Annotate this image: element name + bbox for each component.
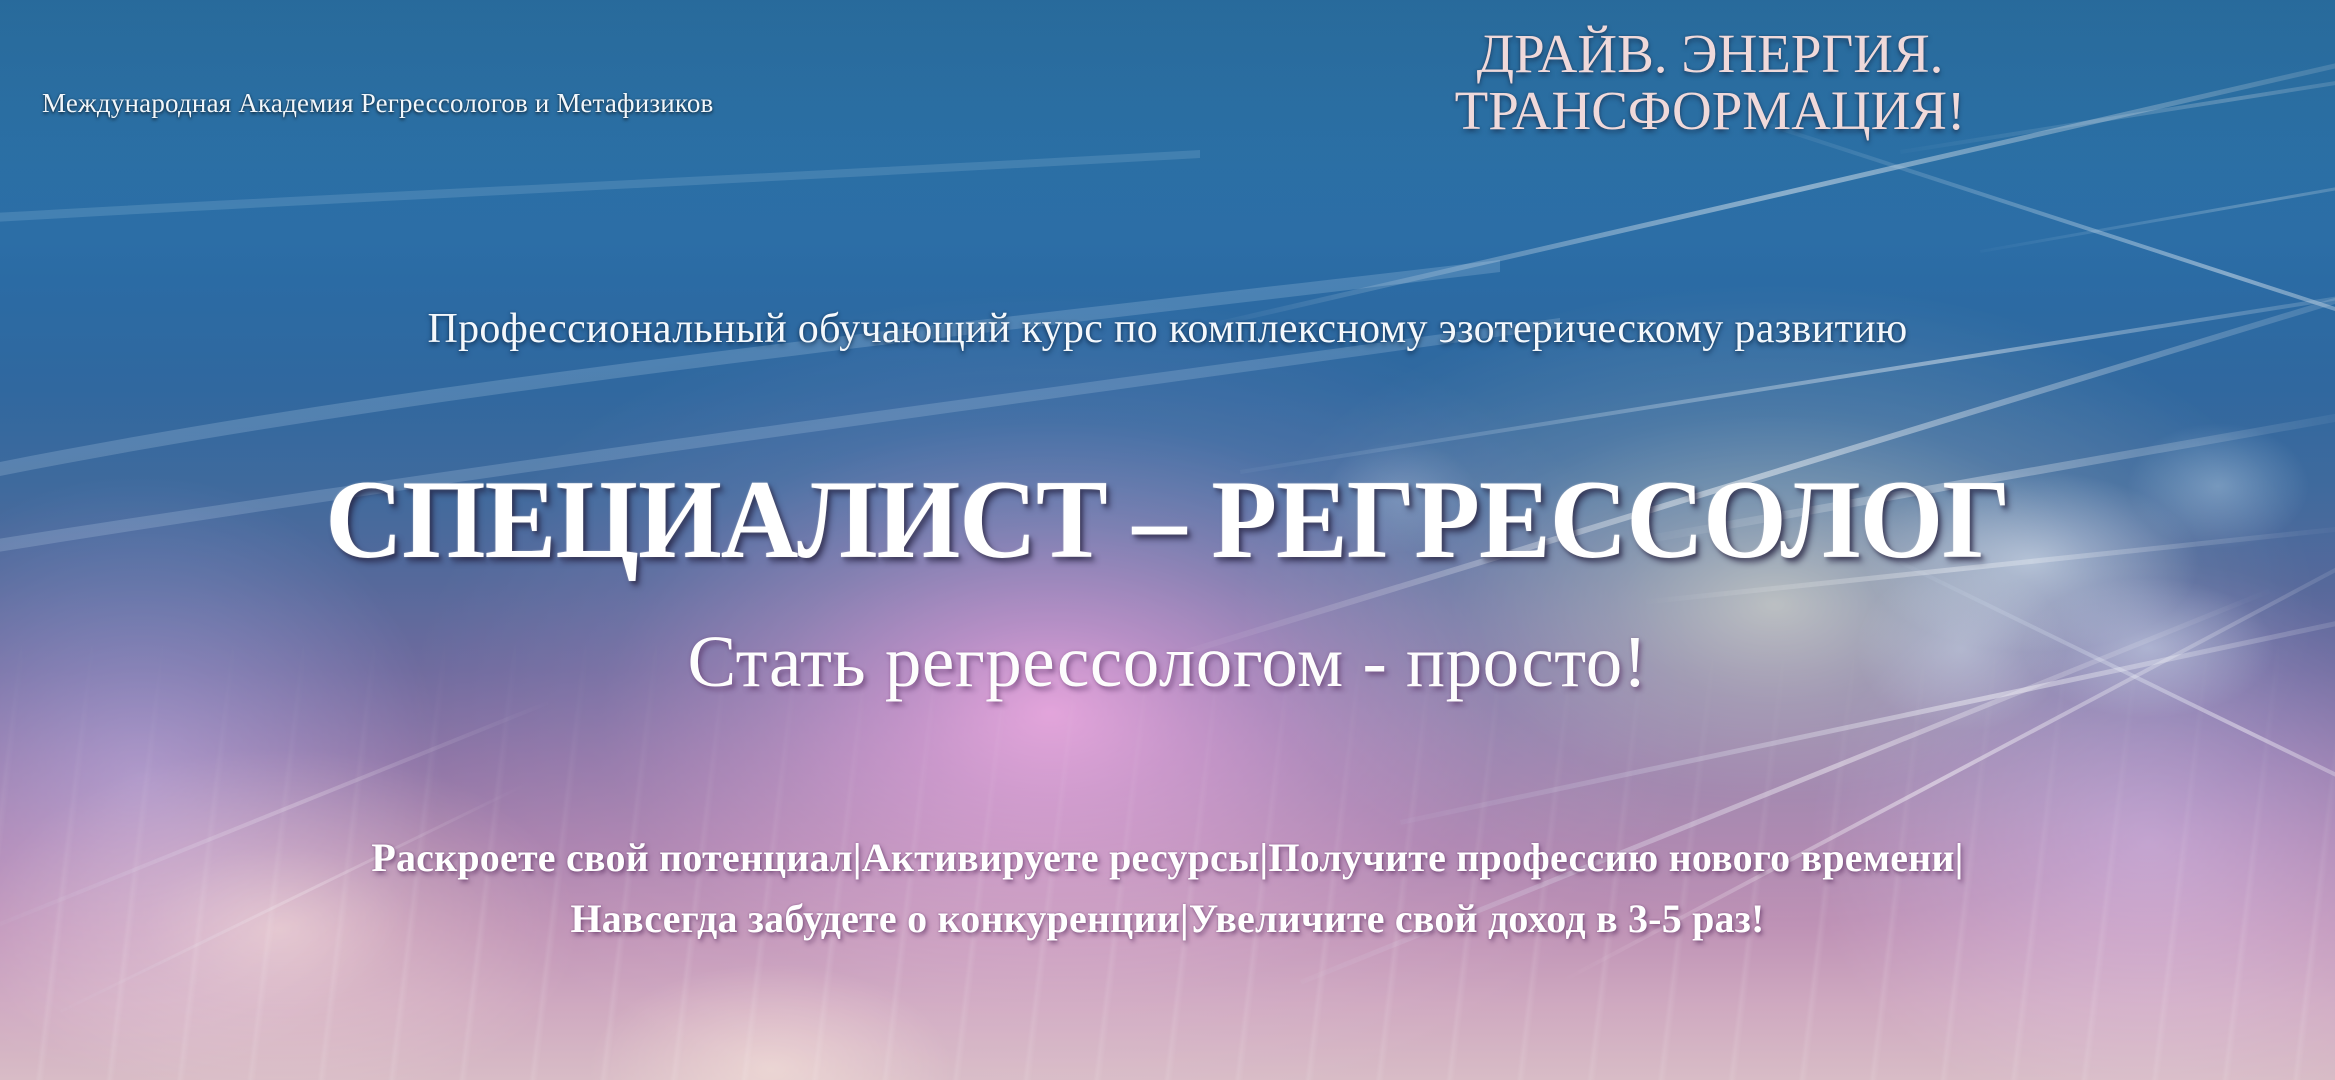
benefit-line: Навсегда забудете о конкуренции|Увеличит…: [0, 889, 2335, 950]
benefits-list: Раскроете свой потенциал|Активируете рес…: [0, 828, 2335, 950]
tagline: Стать регрессологом - просто!: [0, 620, 2335, 704]
drive-slogan: ДРАЙВ. ЭНЕРГИЯ. ТРАНСФОРМАЦИЯ!: [1390, 26, 2030, 139]
page-title: СПЕЦИАЛИСТ – РЕГРЕССОЛОГ: [47, 456, 2289, 585]
course-description: Профессиональный обучающий курс по компл…: [0, 305, 2335, 353]
benefit-line: Раскроете свой потенциал|Активируете рес…: [0, 828, 2335, 889]
promo-banner: Международная Академия Регрессологов и М…: [0, 0, 2335, 1080]
academy-name: Международная Академия Регрессологов и М…: [42, 88, 714, 119]
banner-content: Международная Академия Регрессологов и М…: [0, 0, 2335, 1080]
